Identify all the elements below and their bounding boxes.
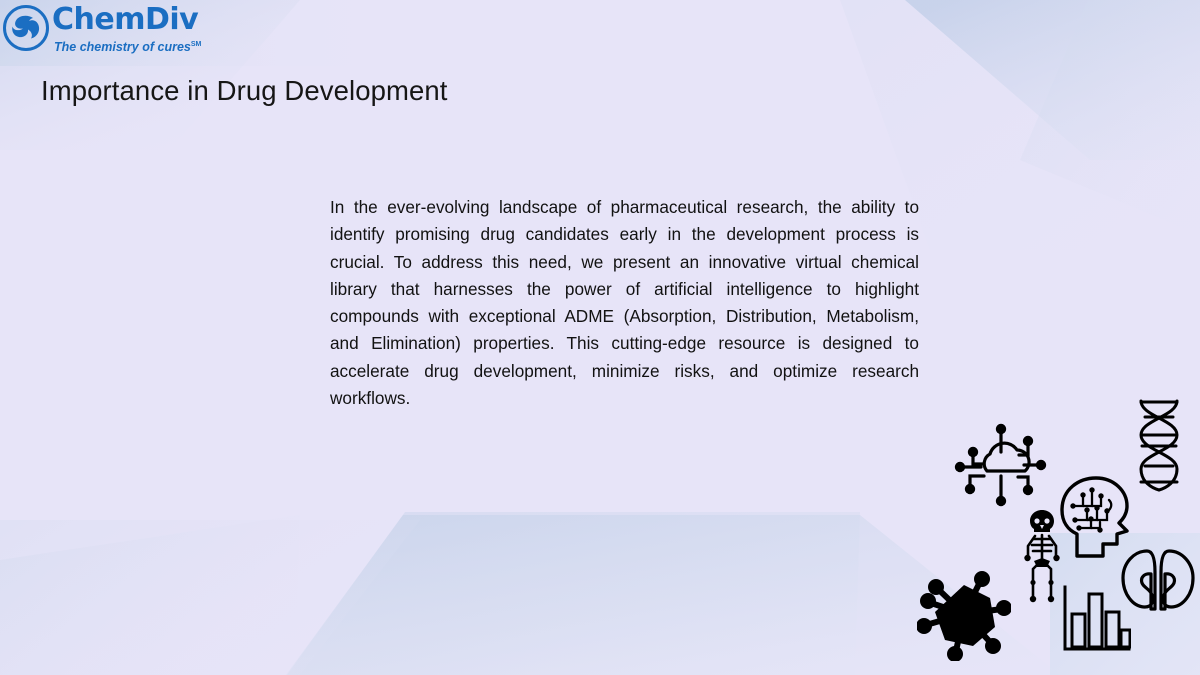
slide-canvas: ChemDiv The chemistry of curesSM Importa… xyxy=(0,0,1200,675)
logo-wordmark: ChemDiv xyxy=(52,4,201,36)
logo-tagline-text: The chemistry of cures xyxy=(54,40,191,54)
chemdiv-circular-s-mark xyxy=(2,4,50,52)
virus-icon xyxy=(917,567,1011,661)
body-paragraph: In the ever-evolving landscape of pharma… xyxy=(330,194,919,412)
cloud-network-icon xyxy=(946,419,1056,519)
bar-chart-icon xyxy=(1059,583,1131,655)
kidneys-icon xyxy=(1120,547,1196,620)
chemdiv-logo[interactable]: ChemDiv The chemistry of curesSM xyxy=(0,0,226,62)
logo-tagline: The chemistry of curesSM xyxy=(52,37,201,55)
logo-tagline-sm: SM xyxy=(191,41,202,48)
skeleton-icon xyxy=(1020,508,1064,608)
page-title: Importance in Drug Development xyxy=(41,74,448,108)
dna-helix-icon xyxy=(1132,398,1186,492)
